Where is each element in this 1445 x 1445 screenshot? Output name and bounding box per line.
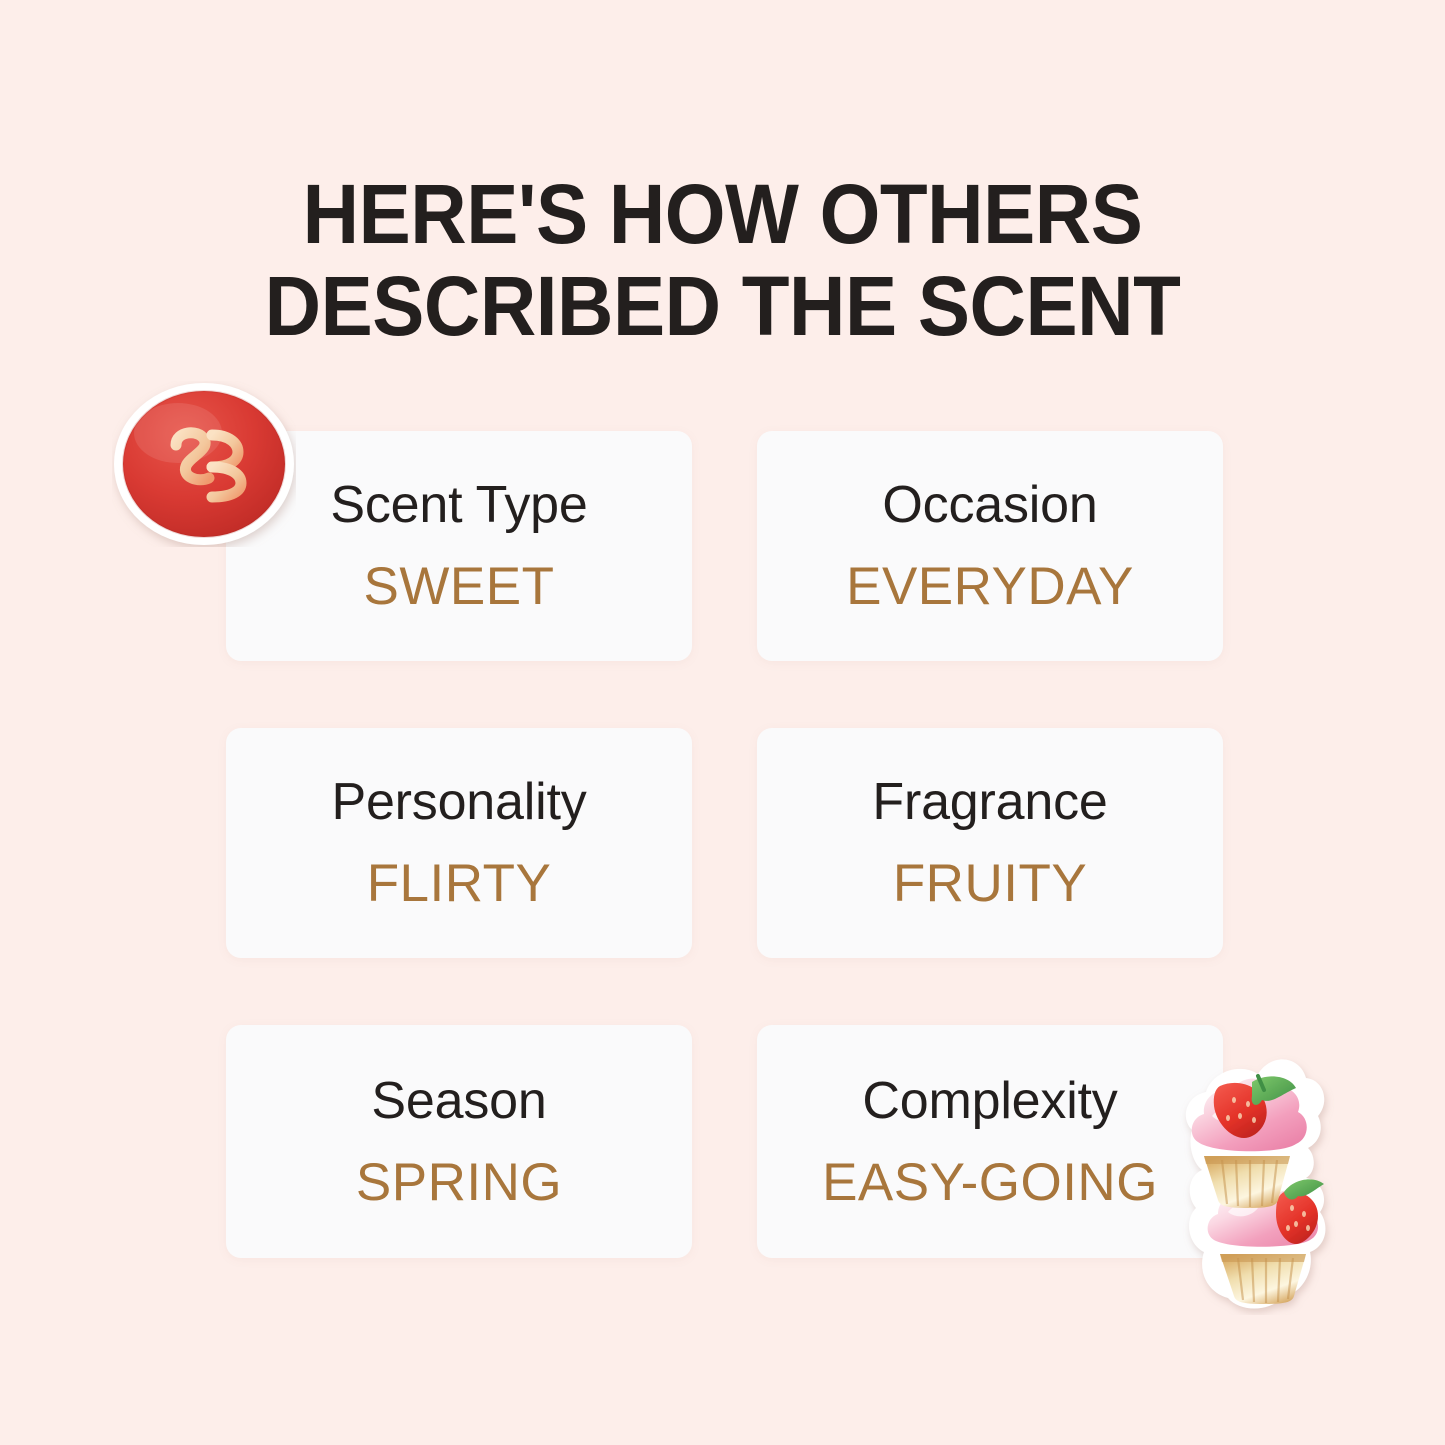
attribute-value: SPRING <box>356 1154 562 1212</box>
page-title: HERE'S HOW OTHERS DESCRIBED THE SCENT <box>0 168 1445 352</box>
attribute-card-fragrance[interactable]: Fragrance FRUITY <box>757 728 1223 958</box>
attribute-value: FLIRTY <box>367 855 552 913</box>
attribute-label: Personality <box>331 773 586 831</box>
attribute-card-grid: Scent Type SWEET Occasion EVERYDAY Perso… <box>226 431 1223 1258</box>
attribute-card-season[interactable]: Season SPRING <box>226 1025 692 1258</box>
page-title-line-1: HERE'S HOW OTHERS <box>51 168 1395 260</box>
attribute-value: SWEET <box>364 558 555 616</box>
attribute-card-personality[interactable]: Personality FLIRTY <box>226 728 692 958</box>
attribute-value: EASY-GOING <box>822 1154 1158 1212</box>
attribute-label: Occasion <box>882 476 1097 534</box>
brand-badge-sticker <box>112 381 296 547</box>
attribute-label: Fragrance <box>872 773 1107 831</box>
scent-attributes-infographic: HERE'S HOW OTHERS DESCRIBED THE SCENT <box>0 0 1445 1445</box>
attribute-value: EVERYDAY <box>846 558 1134 616</box>
attribute-label: Complexity <box>862 1072 1117 1130</box>
attribute-label: Scent Type <box>330 476 587 534</box>
attribute-card-occasion[interactable]: Occasion EVERYDAY <box>757 431 1223 661</box>
attribute-label: Season <box>371 1072 546 1130</box>
page-title-line-2: DESCRIBED THE SCENT <box>51 260 1395 352</box>
attribute-value: FRUITY <box>893 855 1087 913</box>
strawberry-cupcakes-sticker <box>1148 1030 1363 1315</box>
